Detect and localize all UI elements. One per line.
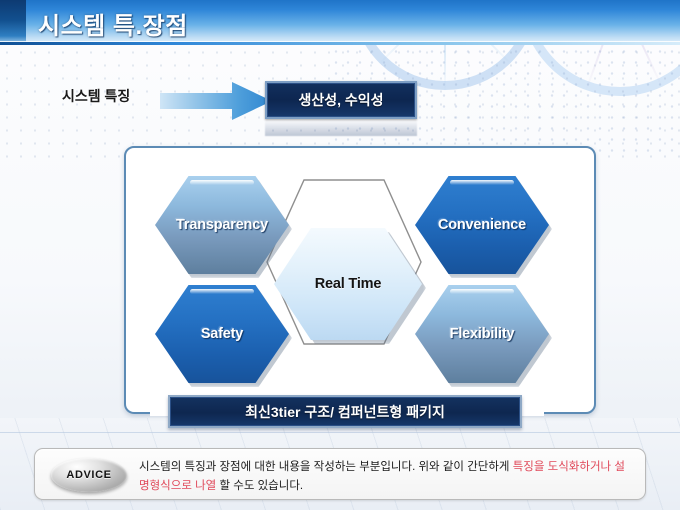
kpi-callout-label: 생산성, 수익성 [298,90,383,110]
hex-label-safety: Safety [201,326,243,342]
kpi-callout-box: 생산성, 수익성 [265,81,417,119]
page-title: 시스템 특.장점 [38,6,188,41]
hex-label-convenience: Convenience [438,217,526,233]
flow-source-label: 시스템 특징 [62,86,130,106]
hex-gloss [190,180,254,185]
slide-header: 시스템 특.장점 [0,0,680,45]
hex-label-flexibility: Flexibility [450,326,515,342]
summary-banner: 최신3tier 구조/ 컴퍼넌트형 패키지 [168,395,522,428]
header-left-accent [0,0,26,45]
diagram-panel: Transparency Convenience Safety Flexibil… [124,146,596,414]
kpi-reflection [265,120,417,136]
hex-gloss [190,289,254,294]
hex-label-transparency: Transparency [176,217,268,233]
right-arrow-icon [160,82,272,120]
advice-box: ADVICE 시스템의 특징과 장점에 대한 내용을 작성하는 부분입니다. 위… [34,448,646,500]
hex-label-realtime: Real Time [315,276,381,292]
hex-gloss [450,289,514,294]
advice-line2-plain: 할 수도 있습니다. [216,480,303,492]
hex-gloss [450,180,514,185]
advice-line1-plain: 시스템의 특징과 장점에 대한 내용을 작성하는 부분입니다. 위와 같이 간단… [139,461,513,473]
slide-root: 시스템 특.장점 시스템 특징 생산성, 수익성 [0,0,680,510]
advice-line1-highlight: 특징을 도식화 [513,461,580,473]
advice-badge: ADVICE [51,458,127,492]
header-underline [0,42,680,45]
decor-bottom-rule [0,432,680,433]
panel-notch-right [522,404,544,416]
advice-badge-label: ADVICE [66,469,111,481]
summary-banner-label: 최신3tier 구조/ 컴퍼넌트형 패키지 [245,402,445,422]
advice-text: 시스템의 특징과 장점에 대한 내용을 작성하는 부분입니다. 위와 같이 간단… [139,458,635,496]
